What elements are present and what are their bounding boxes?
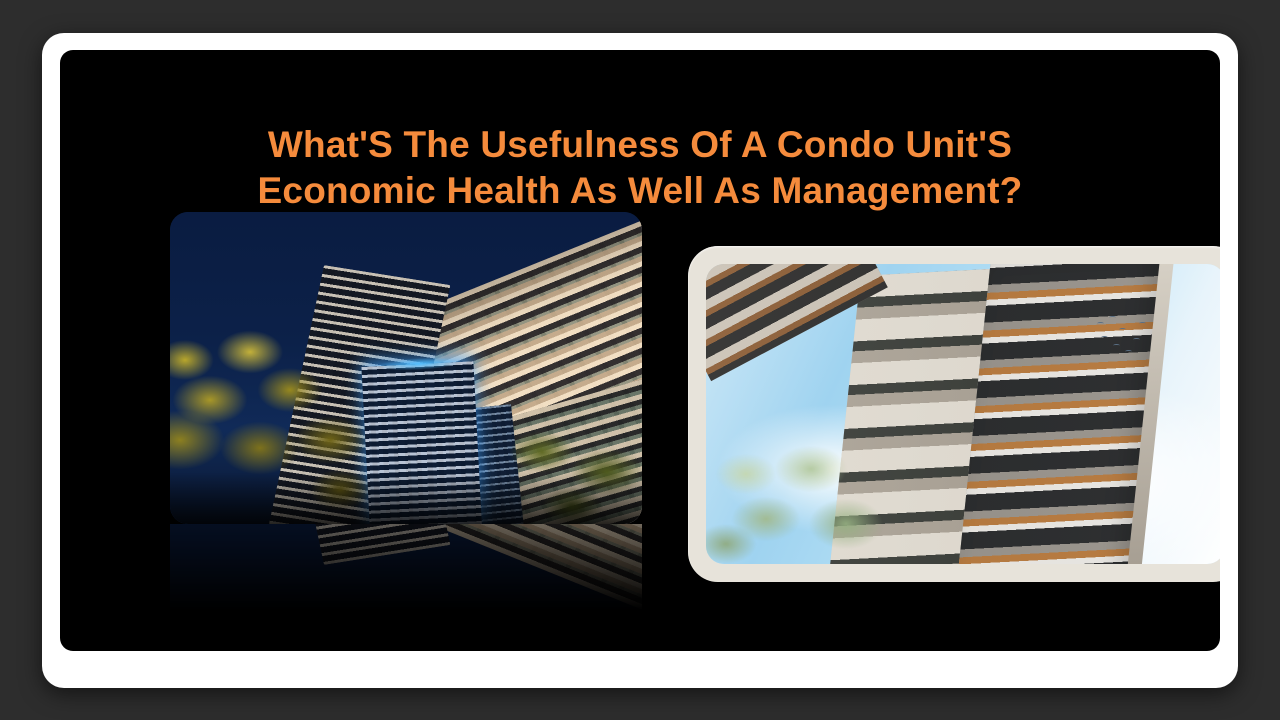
ground-shadow — [170, 472, 642, 524]
right-image-frame — [688, 246, 1220, 582]
title-line-2: Economic Health As Well As Management? — [130, 168, 1150, 214]
night-scene-art — [170, 212, 642, 524]
day-scene-art — [706, 264, 1220, 564]
birds-icon — [1095, 316, 1155, 360]
slide-content-panel: What'S The Usefulness Of A Condo Unit'S … — [60, 50, 1220, 651]
title-line-1: What'S The Usefulness Of A Condo Unit'S — [130, 122, 1150, 168]
night-city-skyscrapers-photo[interactable] — [170, 212, 642, 524]
daytime-apartment-building-photo[interactable] — [706, 264, 1220, 564]
slide-stage: What'S The Usefulness Of A Condo Unit'S … — [0, 0, 1280, 720]
slide-card: What'S The Usefulness Of A Condo Unit'S … — [42, 33, 1238, 688]
left-image-block — [170, 212, 642, 618]
slide-title: What'S The Usefulness Of A Condo Unit'S … — [60, 122, 1220, 214]
left-image-reflection — [170, 524, 642, 618]
tree-icon — [706, 434, 906, 564]
